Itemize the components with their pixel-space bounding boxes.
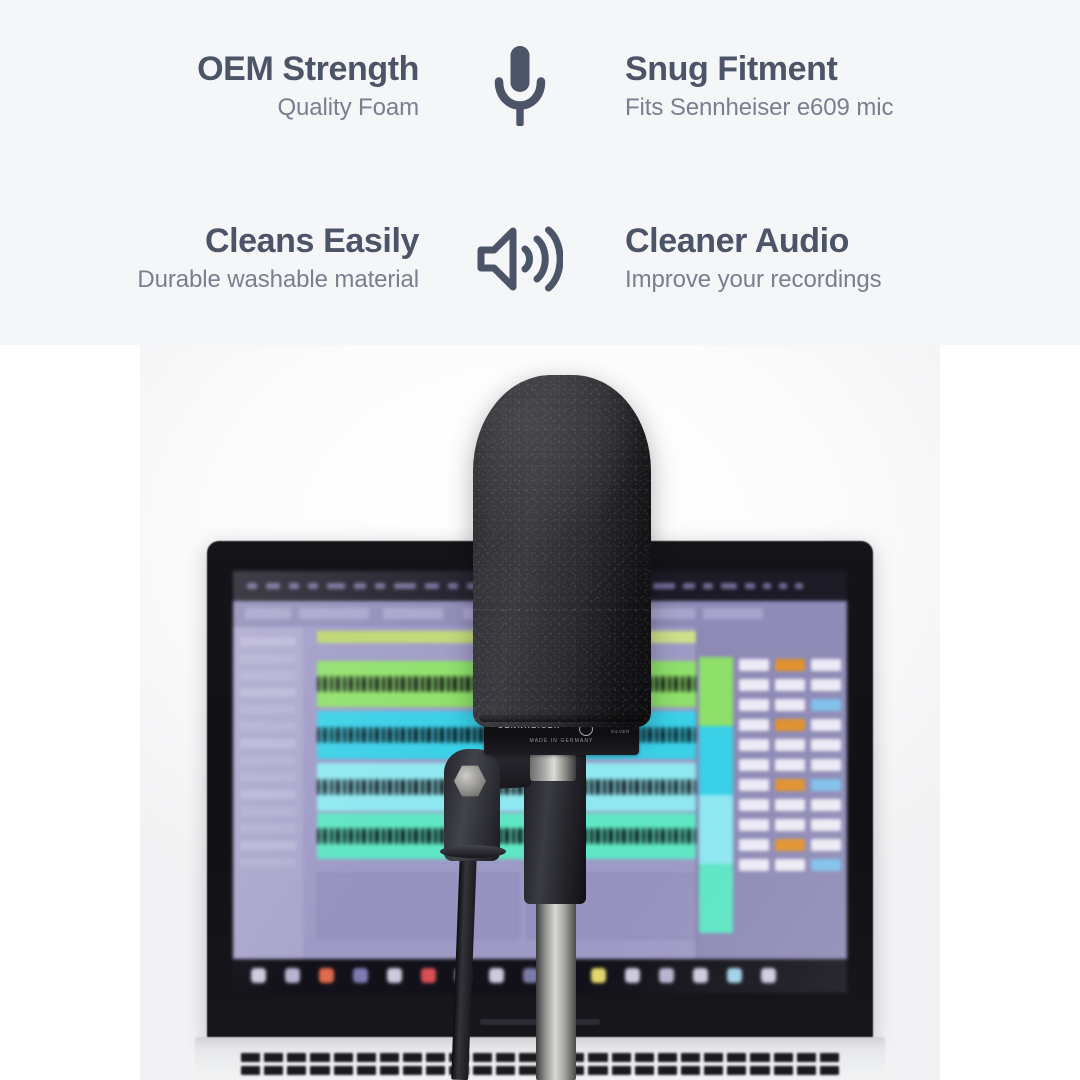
daw-mixer-cell: [775, 839, 805, 851]
daw-mixer-cell: [739, 719, 769, 731]
keyboard-key: [774, 1066, 793, 1075]
daw-toolbar-control: [779, 583, 787, 589]
daw-browser-row: [240, 773, 296, 782]
daw-mixer-cell: [739, 659, 769, 671]
daw-dock-icon: [761, 968, 776, 983]
feature-title: Cleaner Audio: [625, 223, 849, 259]
daw-toolbar-control: [308, 583, 318, 589]
daw-browser-row: [240, 739, 296, 748]
keyboard-key: [241, 1066, 260, 1075]
feature-highlights-band: OEM Strength Quality Foam Snug Fitment F…: [0, 0, 1080, 345]
daw-toolbar-control: [745, 583, 755, 589]
foam-windscreen: [473, 375, 651, 727]
daw-mixer-cell: [775, 819, 805, 831]
daw-mixer-cell: [811, 839, 841, 851]
daw-mixer-cell: [739, 819, 769, 831]
speaker-volume-icon: [477, 224, 563, 294]
daw-dock-icon: [285, 968, 300, 983]
daw-dock-icon: [319, 968, 334, 983]
daw-browser-row: [240, 637, 296, 646]
feature-title: Cleans Easily: [205, 223, 419, 259]
daw-mixer-cell: [739, 759, 769, 771]
keyboard-key: [797, 1053, 816, 1062]
feature-item-snug-fitment: Snug Fitment Fits Sennheiser e609 mic: [603, 0, 1040, 173]
daw-mixer-cell: [775, 779, 805, 791]
microphone-icon: [489, 44, 551, 128]
daw-mixer-cell: [811, 779, 841, 791]
daw-mixer-cell: [811, 699, 841, 711]
daw-toolbar-control: [795, 583, 803, 589]
daw-mixer-cell: [811, 659, 841, 671]
daw-browser-row: [240, 790, 296, 799]
daw-mixer-cell: [775, 659, 805, 671]
daw-mixer-cell: [811, 819, 841, 831]
daw-mixer-cell: [739, 799, 769, 811]
daw-dock-icon: [251, 968, 266, 983]
keyboard-key: [287, 1066, 306, 1075]
feature-subtitle: Fits Sennheiser e609 mic: [625, 95, 893, 122]
daw-mixer-cell: [775, 859, 805, 871]
speaker-volume-icon-cell: [437, 173, 603, 346]
keyboard-key: [820, 1066, 839, 1075]
feature-item-cleaner-audio: Cleaner Audio Improve your recordings: [603, 173, 1040, 346]
feature-subtitle: Improve your recordings: [625, 267, 881, 294]
feature-item-oem-strength: OEM Strength Quality Foam: [0, 0, 437, 173]
daw-toolbar-control: [247, 583, 257, 589]
keyboard-key: [820, 1053, 839, 1062]
daw-toolbar-control: [763, 583, 771, 589]
daw-mixer-cell: [811, 759, 841, 771]
daw-browser-row: [240, 654, 296, 663]
daw-mixer-cell: [739, 739, 769, 751]
keyboard-key: [797, 1066, 816, 1075]
daw-browser-row: [240, 671, 296, 680]
daw-browser-sidebar: [233, 627, 304, 959]
product-photo-area: SENNHEISER e609 SILVER MADE IN GERMANY: [0, 345, 1080, 1080]
keyboard-key: [750, 1066, 769, 1075]
daw-mixer-cell: [739, 699, 769, 711]
daw-mixer-cell: [775, 699, 805, 711]
daw-browser-row: [240, 722, 296, 731]
keyboard-key: [310, 1066, 329, 1075]
daw-toolbar-control: [289, 583, 299, 589]
feature-title: OEM Strength: [197, 51, 419, 87]
daw-browser-row: [240, 705, 296, 714]
daw-mixer-cell: [775, 759, 805, 771]
keyboard-key: [241, 1053, 260, 1062]
daw-mixer-cell: [811, 679, 841, 691]
daw-mixer-cell: [739, 679, 769, 691]
daw-mixer-cell: [811, 859, 841, 871]
feature-item-cleans-easily: Cleans Easily Durable washable material: [0, 173, 437, 346]
daw-mixer-cell: [811, 719, 841, 731]
daw-mixer-cell: [811, 799, 841, 811]
daw-browser-row: [240, 841, 296, 850]
badge-origin: MADE IN GERMANY: [484, 738, 639, 744]
daw-mixer-cell: [775, 679, 805, 691]
badge-model-sub: SILVER: [609, 729, 630, 734]
daw-mixer-cell: [775, 719, 805, 731]
daw-browser-row: [240, 858, 296, 867]
mic-stand-rod: [451, 850, 477, 1080]
feature-title: Snug Fitment: [625, 51, 837, 87]
daw-toolbar-control: [266, 583, 280, 589]
feature-grid: OEM Strength Quality Foam Snug Fitment F…: [0, 0, 1080, 345]
microphone-assembly: SENNHEISER e609 SILVER MADE IN GERMANY: [340, 345, 740, 1080]
keyboard-key: [264, 1066, 283, 1075]
daw-mixer-cell: [775, 799, 805, 811]
keyboard-key: [310, 1053, 329, 1062]
keyboard-key: [774, 1053, 793, 1062]
microphone-icon-cell: [437, 0, 603, 173]
feature-subtitle: Quality Foam: [277, 95, 419, 122]
daw-browser-row: [240, 688, 296, 697]
daw-mixer-cell: [775, 739, 805, 751]
keyboard-key: [264, 1053, 283, 1062]
daw-browser-row: [240, 824, 296, 833]
feature-subtitle: Durable washable material: [137, 267, 419, 294]
mic-clip-ring: [440, 845, 506, 858]
daw-browser-row: [240, 756, 296, 765]
keyboard-key: [287, 1053, 306, 1062]
daw-browser-row: [240, 807, 296, 816]
daw-mixer-cell: [739, 859, 769, 871]
daw-subbar-chip: [245, 608, 291, 619]
keyboard-key: [750, 1053, 769, 1062]
product-photo: SENNHEISER e609 SILVER MADE IN GERMANY: [140, 345, 940, 1080]
daw-mixer-cell: [739, 839, 769, 851]
daw-mixer-cell: [739, 779, 769, 791]
daw-mixer-cell: [811, 739, 841, 751]
